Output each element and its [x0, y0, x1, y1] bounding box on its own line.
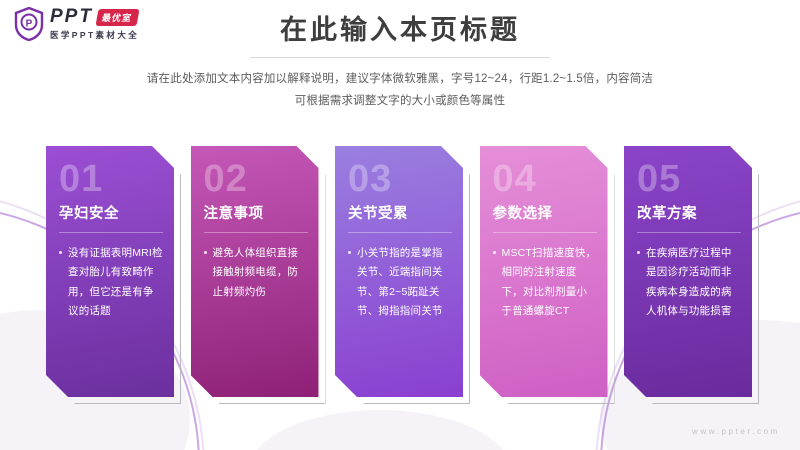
card-05[interactable]: 05 改革方案 在疾病医疗过程中是因诊疗活动而非疾病本身造成的病人机体与功能损害 [624, 146, 754, 404]
header: 在此输入本页标题 请在此处添加文本内容加以解释说明，建议字体微软雅黑，字号12~… [0, 14, 800, 113]
card-divider [204, 232, 308, 233]
card-divider [493, 232, 597, 233]
background-blob-center [250, 410, 510, 450]
card-text: MSCT扫描速度快，相同的注射速度下，对比剂剂量小于普通螺旋CT [502, 244, 597, 322]
card-number: 05 [637, 160, 741, 198]
bullet-icon [204, 251, 207, 254]
card-body-01[interactable]: 01 孕妇安全 没有证据表明MRI检查对胎儿有致畸作用，但它还是有争议的话题 [46, 146, 174, 397]
card-number: 01 [59, 160, 163, 198]
card-01[interactable]: 01 孕妇安全 没有证据表明MRI检查对胎儿有致畸作用，但它还是有争议的话题 [46, 146, 176, 404]
card-number: 02 [204, 160, 308, 198]
card-03[interactable]: 03 关节受累 小关节指的是掌指关节、近端指间关节、第2~5跖趾关节、拇指指间关… [335, 146, 465, 404]
bullet-icon [348, 251, 351, 254]
page-subtitle: 请在此处添加文本内容加以解释说明，建议字体微软雅黑，字号12~24，行距1.2~… [0, 68, 800, 113]
card-body-02[interactable]: 02 注意事项 避免人体组织直接接触射频电缆，防止射频灼伤 [191, 146, 319, 397]
card-row: 01 孕妇安全 没有证据表明MRI检查对胎儿有致畸作用，但它还是有争议的话题 0… [46, 146, 754, 404]
card-text: 避免人体组织直接接触射频电缆，防止射频灼伤 [213, 244, 308, 302]
slide-canvas: P PPT 最优室 医学PPT素材大全 在此输入本页标题 请在此处添加文本内容加… [0, 0, 800, 450]
bullet-icon [59, 251, 62, 254]
card-number: 03 [348, 160, 452, 198]
card-content: 小关节指的是掌指关节、近端指间关节、第2~5跖趾关节、拇指指间关节 [348, 244, 452, 322]
card-content: 没有证据表明MRI检查对胎儿有致畸作用，但它还是有争议的话题 [59, 244, 163, 322]
card-title: 关节受累 [348, 202, 452, 223]
subtitle-line-2: 可根据需求调整文字的大小或颜色等属性 [0, 90, 800, 112]
card-divider [348, 232, 452, 233]
card-title: 改革方案 [637, 202, 741, 223]
card-divider [59, 232, 163, 233]
title-divider [250, 57, 550, 58]
footer-url: www.ppter.com [692, 427, 780, 436]
card-text: 小关节指的是掌指关节、近端指间关节、第2~5跖趾关节、拇指指间关节 [357, 244, 452, 322]
card-body-05[interactable]: 05 改革方案 在疾病医疗过程中是因诊疗活动而非疾病本身造成的病人机体与功能损害 [624, 146, 752, 397]
card-title: 注意事项 [204, 202, 308, 223]
card-number: 04 [493, 160, 597, 198]
card-content: 避免人体组织直接接触射频电缆，防止射频灼伤 [204, 244, 308, 302]
card-title: 孕妇安全 [59, 202, 163, 223]
subtitle-line-1: 请在此处添加文本内容加以解释说明，建议字体微软雅黑，字号12~24，行距1.2~… [0, 68, 800, 90]
bullet-icon [637, 251, 640, 254]
card-title: 参数选择 [493, 202, 597, 223]
card-body-03[interactable]: 03 关节受累 小关节指的是掌指关节、近端指间关节、第2~5跖趾关节、拇指指间关… [335, 146, 463, 397]
card-content: 在疾病医疗过程中是因诊疗活动而非疾病本身造成的病人机体与功能损害 [637, 244, 741, 322]
bullet-icon [493, 251, 496, 254]
card-04[interactable]: 04 参数选择 MSCT扫描速度快，相同的注射速度下，对比剂剂量小于普通螺旋CT [480, 146, 610, 404]
card-02[interactable]: 02 注意事项 避免人体组织直接接触射频电缆，防止射频灼伤 [191, 146, 321, 404]
page-title: 在此输入本页标题 [0, 14, 800, 48]
card-content: MSCT扫描速度快，相同的注射速度下，对比剂剂量小于普通螺旋CT [493, 244, 597, 322]
card-text: 在疾病医疗过程中是因诊疗活动而非疾病本身造成的病人机体与功能损害 [646, 244, 741, 322]
card-body-04[interactable]: 04 参数选择 MSCT扫描速度快，相同的注射速度下，对比剂剂量小于普通螺旋CT [480, 146, 608, 397]
card-divider [637, 232, 741, 233]
card-text: 没有证据表明MRI检查对胎儿有致畸作用，但它还是有争议的话题 [68, 244, 163, 322]
